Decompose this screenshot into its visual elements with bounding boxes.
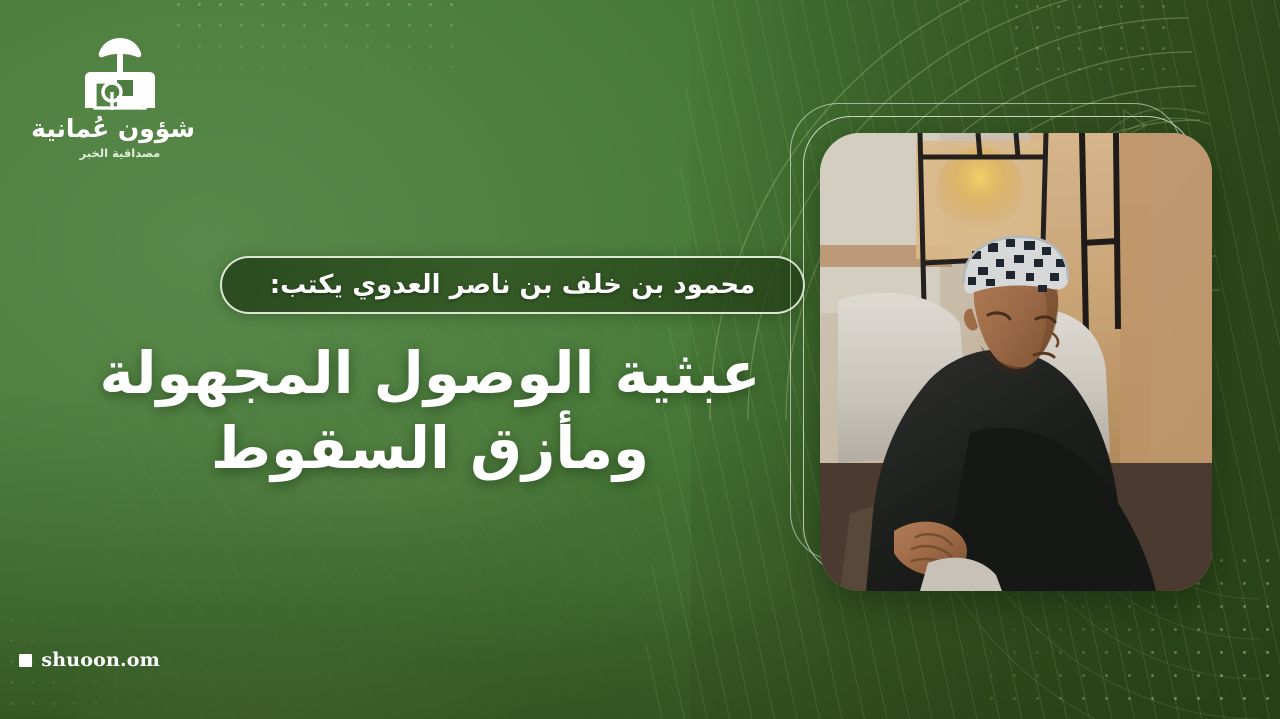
site-url-footer[interactable]: shuoon.om xyxy=(19,649,160,671)
headline-line-2: ومأزق السقوط xyxy=(60,411,800,486)
author-kicker-text: محمود بن خلف بن ناصر العدوي يكتب: xyxy=(270,270,755,300)
square-bullet-icon xyxy=(19,654,32,667)
page-title: عبثية الوصول المجهولة ومأزق السقوط xyxy=(60,336,800,487)
author-kicker-pill: محمود بن خلف بن ناصر العدوي يكتب: xyxy=(220,256,805,314)
mabkhara-incense-burner-icon xyxy=(77,36,163,110)
site-url-text: shuoon.om xyxy=(41,649,160,671)
headline-line-1: عبثية الوصول المجهولة xyxy=(60,336,800,411)
portrait-photo xyxy=(820,133,1212,591)
portrait-block xyxy=(820,133,1212,591)
brand-tagline: مصداقية الخبر xyxy=(45,146,195,160)
background-dot-grid-top-left xyxy=(168,0,458,86)
brand-name: شؤون عُمانية xyxy=(45,116,195,142)
background-dot-grid-top-right xyxy=(1006,0,1176,70)
brand-logo[interactable]: شؤون عُمانية مصداقية الخبر xyxy=(45,36,195,160)
article-promo-card: شؤون عُمانية مصداقية الخبر محمود بن خلف … xyxy=(0,0,1280,719)
